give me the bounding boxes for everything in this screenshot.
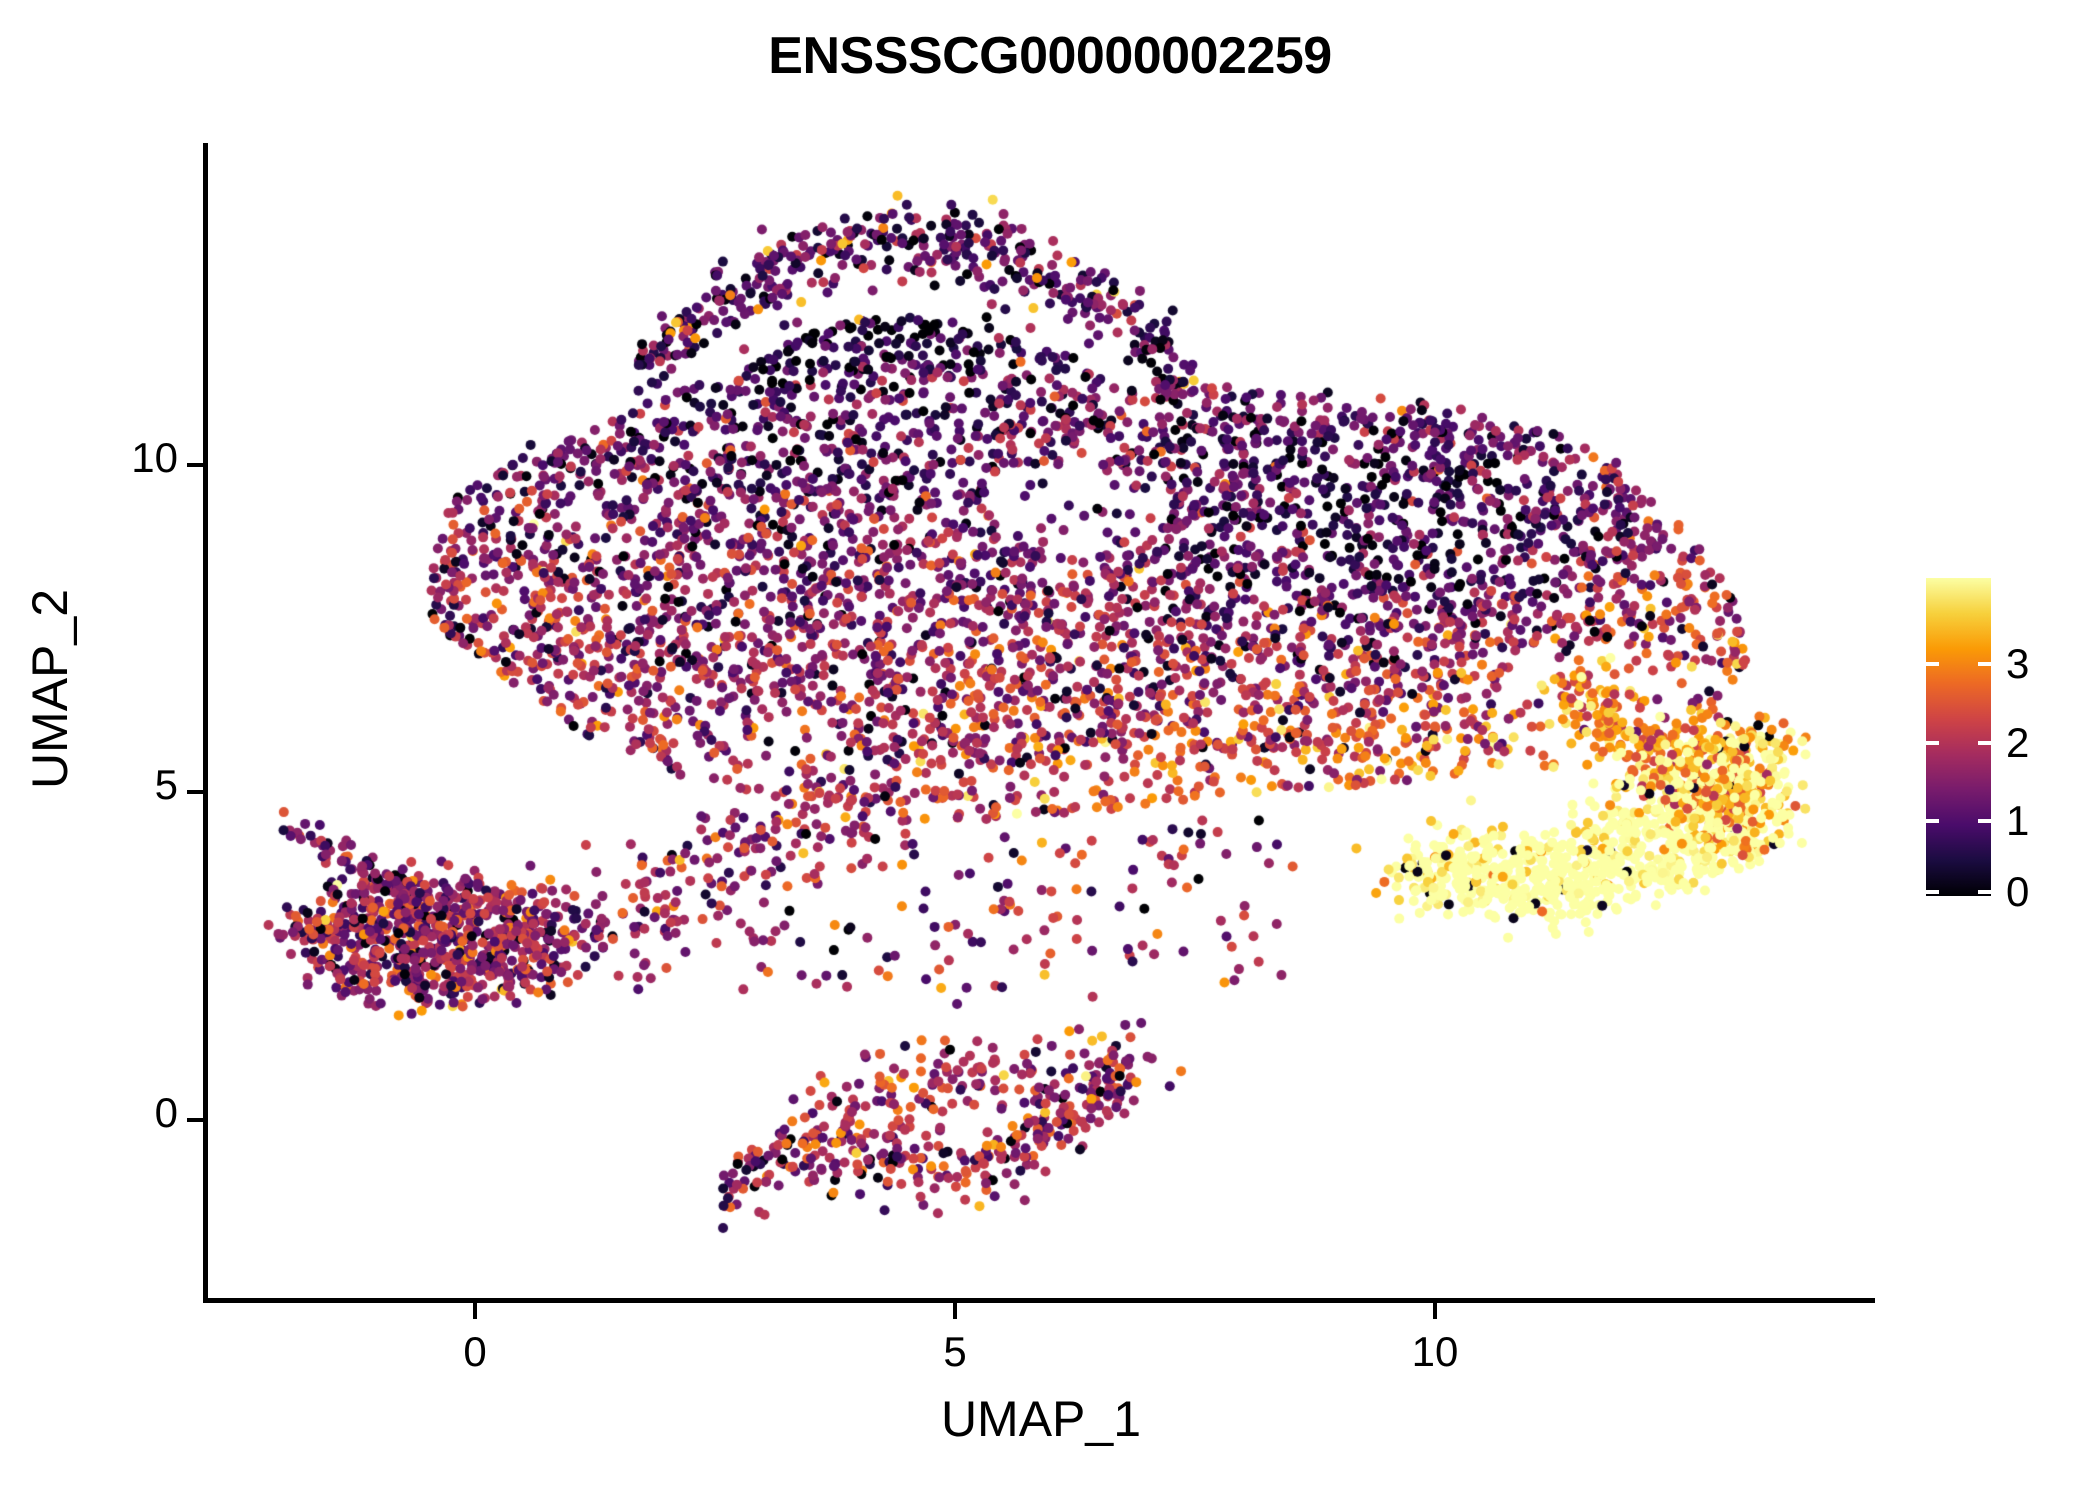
x-tick-mark-10	[1433, 1303, 1437, 1319]
y-tick-mark-0	[187, 1118, 203, 1122]
colorbar-tick-0-right	[1978, 890, 1991, 894]
umap-feature-plot: ENSSSCG00000002259 10 5 0 0 5 10 UMAP_1 …	[0, 0, 2100, 1500]
y-axis-title: UMAP_2	[21, 109, 79, 1269]
colorbar-tick-3-left	[1926, 662, 1939, 666]
colorbar-tick-2-left	[1926, 741, 1939, 745]
x-tick-label-10: 10	[1355, 1328, 1515, 1376]
plot-panel	[207, 143, 1875, 1300]
colorbar-label-0: 0	[2006, 868, 2029, 916]
x-tick-label-0: 0	[395, 1328, 555, 1376]
colorbar-gradient	[1926, 578, 1991, 896]
x-axis-title: UMAP_1	[207, 1390, 1875, 1448]
y-tick-mark-5	[187, 790, 203, 794]
colorbar-tick-1-left	[1926, 819, 1939, 823]
colorbar-legend: 3 2 1 0	[1926, 578, 2076, 898]
page-title: ENSSSCG00000002259	[0, 26, 2100, 86]
x-tick-label-5: 5	[875, 1328, 1035, 1376]
x-axis-line	[203, 1298, 1875, 1303]
colorbar-tick-3-right	[1978, 662, 1991, 666]
x-tick-mark-5	[953, 1303, 957, 1319]
colorbar-tick-0-left	[1926, 890, 1939, 894]
colorbar-label-3: 3	[2006, 640, 2029, 688]
y-axis-line	[203, 143, 208, 1303]
scatter-points-canvas	[207, 143, 1875, 1300]
colorbar-tick-1-right	[1978, 819, 1991, 823]
colorbar-tick-2-right	[1978, 741, 1991, 745]
x-tick-mark-0	[473, 1303, 477, 1319]
colorbar-label-2: 2	[2006, 719, 2029, 767]
y-tick-mark-10	[187, 463, 203, 467]
colorbar-label-1: 1	[2006, 797, 2029, 845]
